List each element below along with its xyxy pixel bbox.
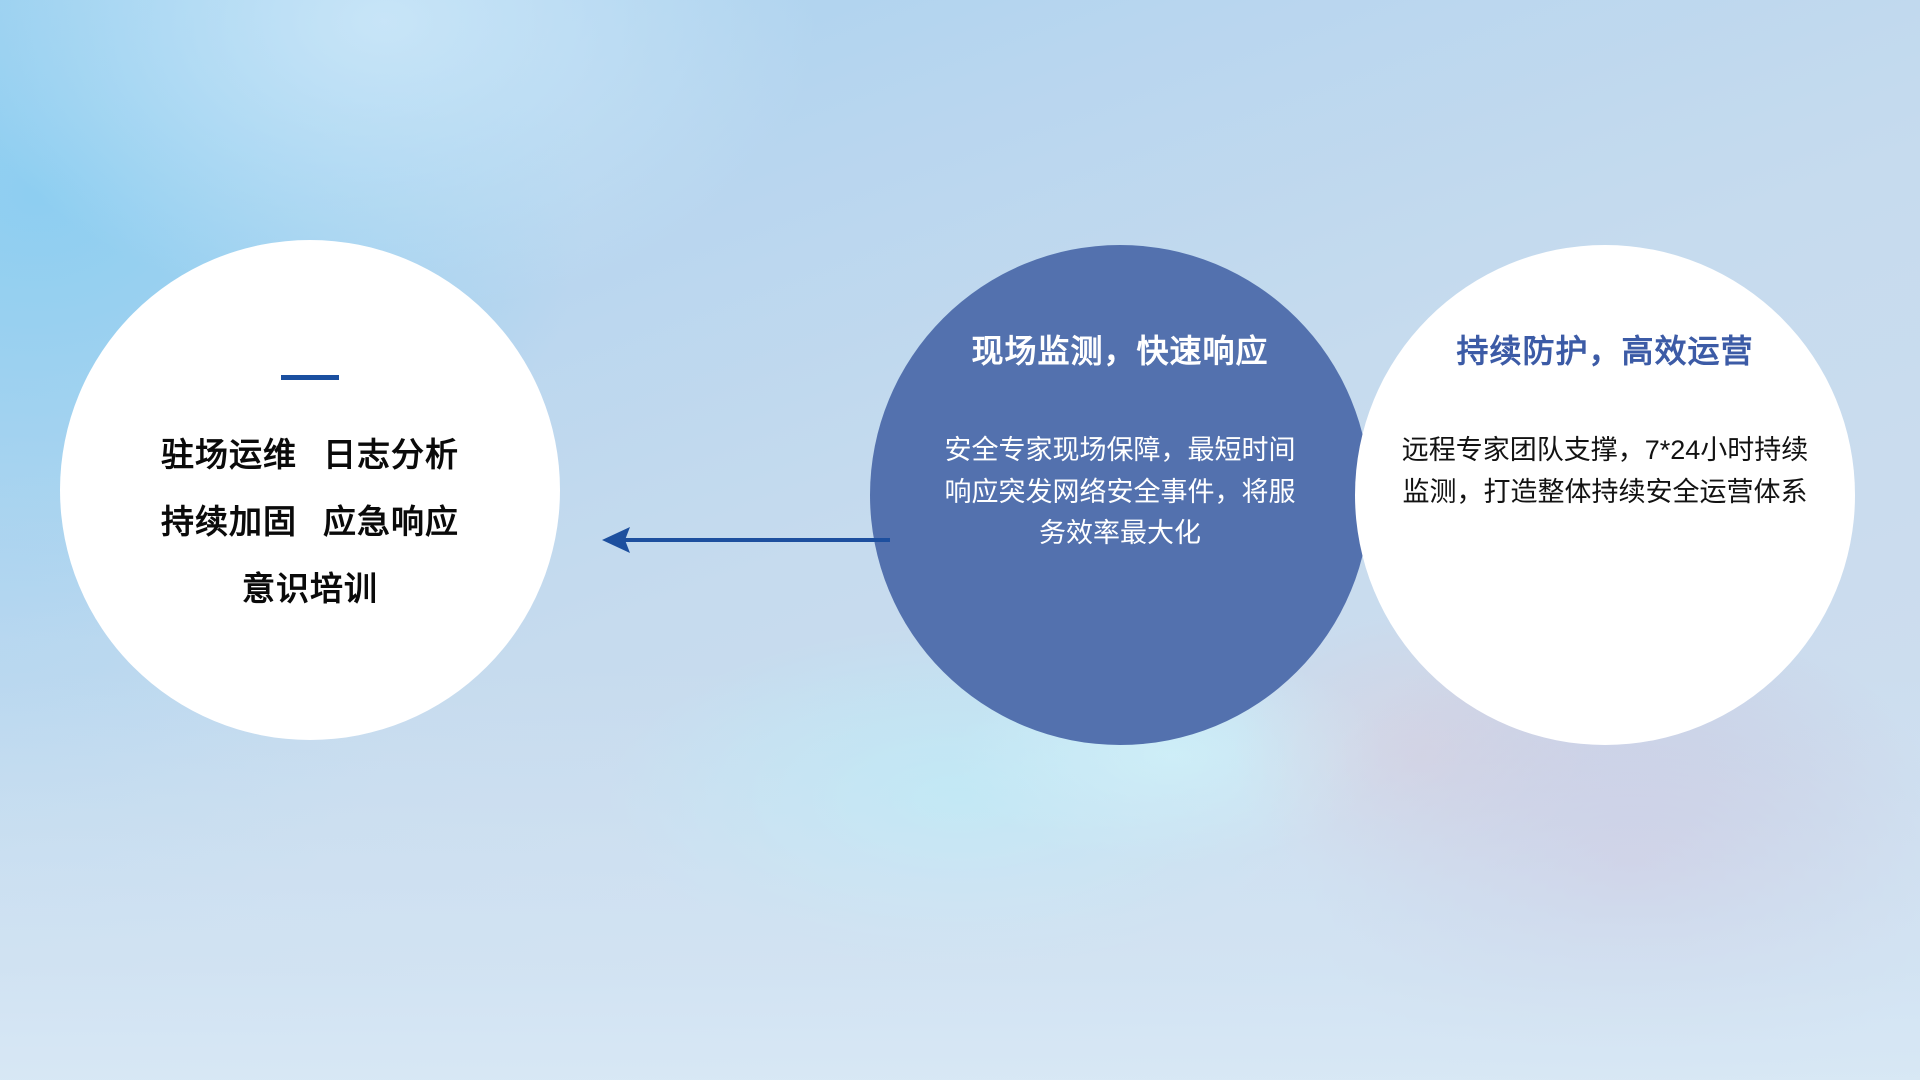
middle-circle-content: 现场监测，快速响应 安全专家现场保障，最短时间响应突发网络安全事件，将服务效率最…	[870, 245, 1370, 745]
keyword-row: 持续加固应急响应	[161, 505, 459, 538]
keyword-row: 驻场运维日志分析	[161, 438, 459, 471]
accent-divider-line	[281, 375, 339, 380]
right-circle-body: 远程专家团队支撑，7*24小时持续监测，打造整体持续安全运营体系	[1396, 430, 1814, 514]
keyword-label: 意识培训	[242, 570, 378, 607]
keyword-label: 驻场运维	[161, 436, 297, 473]
keyword-label: 日志分析	[323, 436, 459, 473]
arrow-left-icon	[600, 520, 890, 560]
keyword-label: 应急响应	[323, 503, 459, 540]
keyword-label: 持续加固	[161, 503, 297, 540]
keyword-row: 意识培训	[242, 572, 378, 605]
middle-circle-title: 现场监测，快速响应	[971, 333, 1268, 370]
left-circle-content: 驻场运维日志分析 持续加固应急响应 意识培训	[60, 240, 560, 740]
right-circle-title: 持续防护，高效运营	[1456, 333, 1753, 370]
connector-arrow-left	[600, 520, 890, 560]
middle-circle-body: 安全专家现场保障，最短时间响应突发网络安全事件，将服务效率最大化	[944, 430, 1296, 556]
slide-canvas: 驻场运维日志分析 持续加固应急响应 意识培训 现场监测，快速响应 安全专家现场保…	[0, 0, 1920, 1080]
right-circle-content: 持续防护，高效运营 远程专家团队支撑，7*24小时持续监测，打造整体持续安全运营…	[1355, 245, 1855, 745]
